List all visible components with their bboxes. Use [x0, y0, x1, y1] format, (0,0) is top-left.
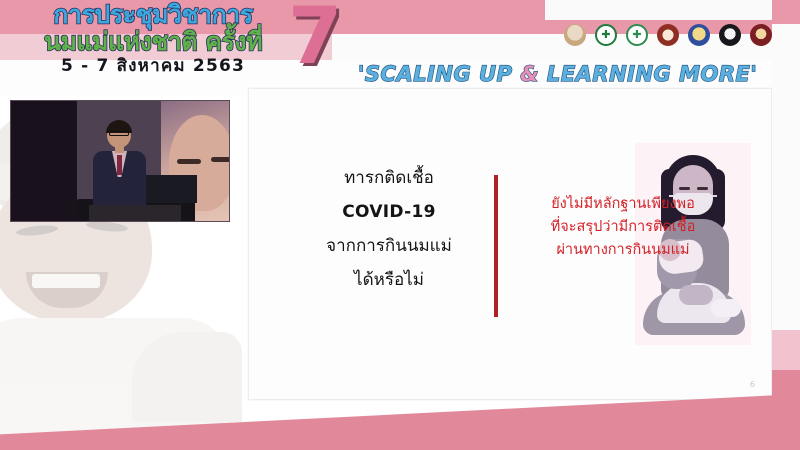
- royal-emblem-logo: [562, 21, 588, 49]
- health-department-logo: [624, 21, 650, 49]
- mother-eye-left: [679, 187, 690, 190]
- speaker-video-feed[interactable]: [10, 100, 230, 222]
- conference-edition-number: 7: [288, 0, 340, 76]
- answer-line-3: ผ่านทางการกินนมแม่: [507, 239, 739, 262]
- video-wall-left: [11, 101, 77, 222]
- question-line-1: ทารกติดเชื้อ: [289, 161, 489, 195]
- slide-screen: การประชุมวิชาการ นมแม่แห่งชาติ ครั้งที่ …: [0, 0, 800, 450]
- black-garuda-logo: [717, 21, 743, 49]
- mother-eye-right: [697, 187, 708, 190]
- answer-line-2: ที่จะสรุปว่ามีการติดเชื้อ: [507, 216, 739, 239]
- ministry-of-public-health-logo: [593, 21, 619, 49]
- tagline-part-2: LEARNING MORE': [539, 62, 757, 86]
- child-teeth: [32, 274, 100, 288]
- projected-baby-eye-left: [177, 159, 201, 164]
- answer-line-1: ยังไม่มีหลักฐานเพียงพอ: [507, 193, 739, 216]
- right-band-top: [772, 0, 800, 24]
- slide-question-text: ทารกติดเชื้อ COVID-19 จากการกินนมแม่ ได้…: [289, 161, 489, 297]
- projected-baby-eye-right: [211, 157, 230, 162]
- mother-foot: [711, 299, 741, 317]
- laptop: [145, 175, 197, 203]
- child-shoulder: [132, 332, 242, 422]
- question-line-2: COVID-19: [289, 195, 489, 229]
- header-band-top-right: [545, 0, 800, 20]
- red-vertical-divider: [494, 175, 498, 317]
- question-line-4: ได้หรือไม่: [289, 263, 489, 297]
- tagline-part-1: 'SCALING UP: [358, 62, 520, 86]
- mother-hand: [679, 285, 713, 305]
- conference-title-line2: นมแม่แห่งชาติ ครั้งที่: [18, 29, 288, 54]
- speaker-tie: [117, 155, 122, 175]
- right-band-body: [772, 24, 800, 330]
- speaker-glasses-icon: [109, 131, 129, 136]
- conference-tagline: 'SCALING UP & LEARNING MORE': [358, 62, 757, 86]
- royal-college-logo: [686, 21, 712, 49]
- conference-date: 5 - 7 สิงหาคม 2563: [18, 58, 288, 75]
- presentation-slide: ทารกติดเชื้อ COVID-19 จากการกินนมแม่ ได้…: [248, 88, 772, 400]
- slide-answer-text: ยังไม่มีหลักฐานเพียงพอ ที่จะสรุปว่ามีการ…: [507, 193, 739, 262]
- tagline-ampersand: &: [520, 62, 539, 86]
- question-line-3: จากการกินนมแม่: [289, 229, 489, 263]
- red-institute-logo: [748, 21, 774, 49]
- sponsor-logo-strip: สสส Thai Health: [562, 18, 800, 52]
- slide-page-number: 6: [750, 380, 755, 389]
- conference-title: การประชุมวิชาการ นมแม่แห่งชาติ ครั้งที่ …: [18, 2, 288, 75]
- conference-title-line1: การประชุมวิชาการ: [18, 2, 288, 27]
- podium-front: [89, 205, 181, 222]
- university-seal-logo: [655, 21, 681, 49]
- right-band-middle: [772, 330, 800, 370]
- conference-header-banner: การประชุมวิชาการ นมแม่แห่งชาติ ครั้งที่ …: [0, 0, 800, 96]
